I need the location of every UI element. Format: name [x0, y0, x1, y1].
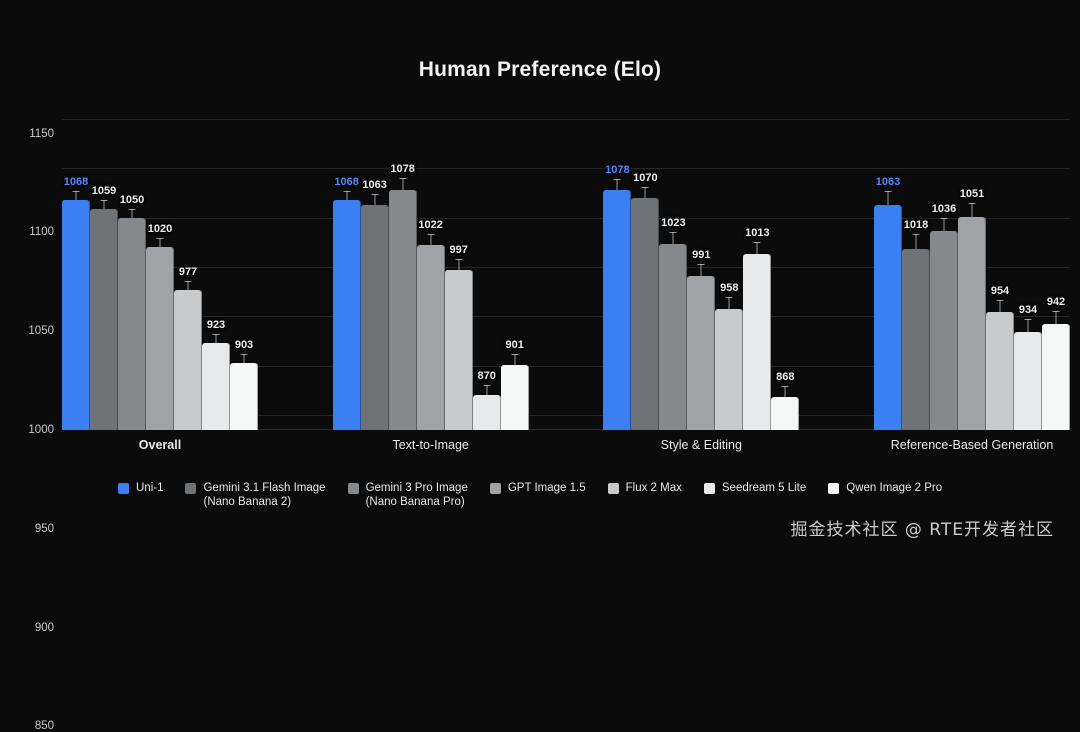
bar-value-label: 1022	[418, 219, 442, 231]
legend-swatch-icon	[608, 483, 619, 494]
bar-slot: 997	[445, 104, 473, 430]
bar-slot: 1063	[361, 104, 389, 430]
bar-group: 1068105910501020977923903Overall	[62, 104, 258, 430]
bar-slot: 868	[771, 104, 799, 430]
x-axis-category-label: Reference-Based Generation	[874, 438, 1070, 452]
bar-group: 1068106310781022997870901Text-to-Image	[333, 104, 529, 430]
bar[interactable]	[333, 200, 361, 430]
bar[interactable]	[958, 217, 986, 430]
bar-slot: 1078	[389, 104, 417, 430]
bar-slot: 870	[473, 104, 501, 430]
bar-slot: 1023	[659, 104, 687, 430]
bar-value-label: 1070	[633, 172, 657, 184]
chart-root: Human Preference (Elo) 85090095010001050…	[0, 0, 1080, 552]
bar-slot: 977	[174, 104, 202, 430]
bar[interactable]	[174, 290, 202, 430]
y-axis-tick-label: 1000	[28, 424, 54, 436]
bar-slot: 1022	[417, 104, 445, 430]
bar[interactable]	[445, 270, 473, 430]
bar-slot: 1070	[631, 104, 659, 430]
legend-item[interactable]: Seedream 5 Lite	[704, 481, 806, 495]
bar-slot: 1051	[958, 104, 986, 430]
bar[interactable]	[874, 205, 902, 430]
bar[interactable]	[118, 218, 146, 430]
bar[interactable]	[659, 244, 687, 430]
bar-group-bars: 1063101810361051954934942	[874, 104, 1070, 430]
x-axis-category-label: Style & Editing	[603, 438, 799, 452]
bar-slot: 1050	[118, 104, 146, 430]
bar[interactable]	[715, 309, 743, 431]
bar[interactable]	[743, 254, 771, 430]
bar[interactable]	[417, 245, 445, 430]
bar[interactable]	[603, 190, 631, 430]
legend: Uni-1Gemini 3.1 Flash Image (Nano Banana…	[118, 481, 964, 509]
bar[interactable]	[1014, 332, 1042, 430]
bar-value-label: 1063	[362, 179, 386, 191]
bar-slot: 942	[1042, 104, 1070, 430]
bar[interactable]	[146, 247, 174, 430]
bar-group-bars: 1078107010239919581013868	[603, 104, 799, 430]
x-axis-category-label: Text-to-Image	[333, 438, 529, 452]
bar[interactable]	[986, 312, 1014, 430]
legend-item[interactable]: Uni-1	[118, 481, 163, 495]
bar-value-label: 1078	[605, 164, 629, 176]
legend-swatch-icon	[118, 483, 129, 494]
plot-area: 8509009501000105011001150106810591050102…	[62, 104, 1070, 430]
bar[interactable]	[389, 190, 417, 430]
legend-swatch-icon	[704, 483, 715, 494]
bar-value-label: 942	[1047, 296, 1065, 308]
bar[interactable]	[62, 200, 90, 430]
legend-item[interactable]: Gemini 3 Pro Image (Nano Banana Pro)	[348, 481, 468, 509]
legend-item-label: Uni-1	[136, 481, 163, 495]
bar-value-label: 1018	[904, 219, 928, 231]
legend-item[interactable]: Flux 2 Max	[608, 481, 682, 495]
y-axis-tick-label: 1050	[28, 325, 54, 337]
bar-value-label: 1068	[334, 176, 358, 188]
bar-group: 1063101810361051954934942Reference-Based…	[874, 104, 1070, 430]
x-axis-category-label: Overall	[62, 438, 258, 452]
legend-swatch-icon	[828, 483, 839, 494]
bar[interactable]	[902, 249, 930, 430]
bar-slot: 1013	[743, 104, 771, 430]
bar-slot: 1059	[90, 104, 118, 430]
bar-value-label: 977	[179, 266, 197, 278]
bar-slot: 958	[715, 104, 743, 430]
bar-value-label: 1036	[932, 203, 956, 215]
bar-value-label: 923	[207, 319, 225, 331]
legend-item-label: Gemini 3 Pro Image (Nano Banana Pro)	[366, 481, 468, 509]
bar-value-label: 870	[477, 370, 495, 382]
y-axis-tick-label: 1100	[29, 226, 54, 238]
legend-item-label: GPT Image 1.5	[508, 481, 586, 495]
bar[interactable]	[930, 231, 958, 430]
legend-item[interactable]: GPT Image 1.5	[490, 481, 586, 495]
page-title: Human Preference (Elo)	[0, 58, 1080, 82]
bar-slot: 1078	[603, 104, 631, 430]
bar-slot: 934	[1014, 104, 1042, 430]
bar-value-label: 1078	[390, 163, 414, 175]
bar-slot: 991	[687, 104, 715, 430]
watermark: 掘金技术社区 @ RTE开发者社区	[790, 515, 1054, 540]
bar-group-bars: 1068106310781022997870901	[333, 104, 529, 430]
bar[interactable]	[631, 198, 659, 430]
bar-value-label: 1050	[120, 194, 144, 206]
bar-slot: 903	[230, 104, 258, 430]
bar[interactable]	[687, 276, 715, 430]
bar-value-label: 958	[720, 282, 738, 294]
legend-item[interactable]: Qwen Image 2 Pro	[828, 481, 942, 495]
bar-slot: 923	[202, 104, 230, 430]
bar-value-label: 868	[776, 371, 794, 383]
legend-item-label: Gemini 3.1 Flash Image (Nano Banana 2)	[203, 481, 325, 509]
bar-group: 1078107010239919581013868Style & Editing	[603, 104, 799, 430]
bar-value-label: 1059	[92, 185, 116, 197]
legend-item-label: Seedream 5 Lite	[722, 481, 806, 495]
bar-value-label: 1068	[64, 176, 88, 188]
bar[interactable]	[473, 395, 501, 430]
legend-item-label: Flux 2 Max	[626, 481, 682, 495]
bar-slot: 1068	[333, 104, 361, 430]
bar-slot: 954	[986, 104, 1014, 430]
legend-item-label: Qwen Image 2 Pro	[846, 481, 942, 495]
bar-slot: 1036	[930, 104, 958, 430]
bar[interactable]	[202, 343, 230, 430]
bar-slot: 1063	[874, 104, 902, 430]
bar-value-label: 991	[692, 249, 710, 261]
y-axis-tick-label: 1150	[29, 128, 54, 140]
bar-group-bars: 1068105910501020977923903	[62, 104, 258, 430]
legend-swatch-icon	[490, 483, 501, 494]
bar-value-label: 901	[505, 339, 523, 351]
y-axis-tick-label: 900	[35, 622, 54, 634]
bar-value-label: 903	[235, 339, 253, 351]
bar-value-label: 1020	[148, 223, 172, 235]
bar-slot: 1020	[146, 104, 174, 430]
bar-value-label: 1013	[745, 227, 769, 239]
bar[interactable]	[230, 363, 258, 430]
y-axis-tick-label: 850	[35, 720, 54, 732]
bar-value-label: 997	[449, 244, 467, 256]
bar-value-label: 934	[1019, 304, 1037, 316]
bar[interactable]	[501, 365, 529, 430]
bar[interactable]	[771, 397, 799, 430]
bar[interactable]	[361, 205, 389, 430]
bar-value-label: 1051	[960, 188, 984, 200]
bar-slot: 1068	[62, 104, 90, 430]
legend-swatch-icon	[348, 483, 359, 494]
bar-value-label: 1063	[876, 176, 900, 188]
bar-value-label: 954	[991, 285, 1009, 297]
legend-item[interactable]: Gemini 3.1 Flash Image (Nano Banana 2)	[185, 481, 325, 509]
y-axis-tick-label: 950	[35, 523, 54, 535]
bar-slot: 901	[501, 104, 529, 430]
bar-slot: 1018	[902, 104, 930, 430]
legend-swatch-icon	[185, 483, 196, 494]
bar[interactable]	[90, 209, 118, 430]
bar-value-label: 1023	[661, 217, 685, 229]
bar[interactable]	[1042, 324, 1070, 430]
